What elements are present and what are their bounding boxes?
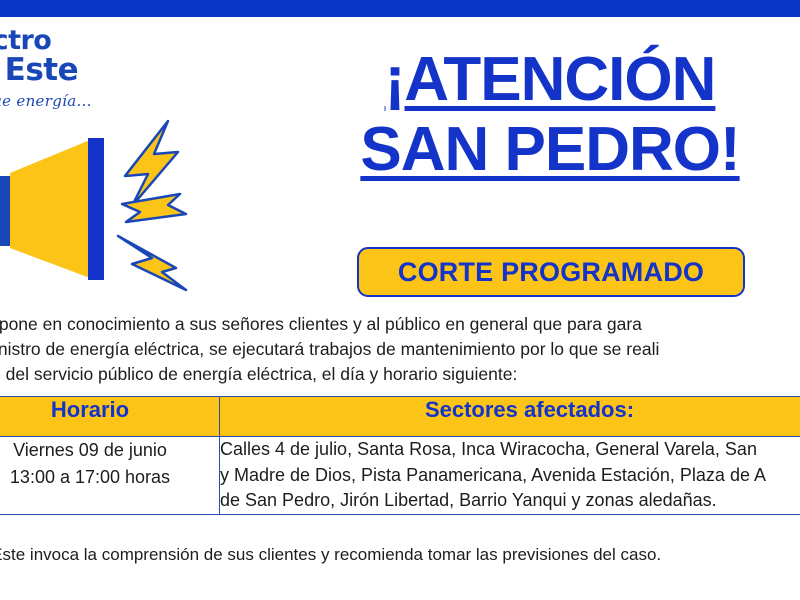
table-header-horario: Horario xyxy=(0,397,220,437)
schedule-time: 13:00 a 17:00 horas xyxy=(0,464,219,491)
outage-schedule-table: Horario Sectores afectados: Viernes 09 d… xyxy=(0,396,800,515)
megaphone-rim xyxy=(88,138,104,280)
intro-line-2: ar el suministro de energía eléctrica, s… xyxy=(0,337,800,362)
closing-text: Sur Este invoca la comprensión de sus cl… xyxy=(0,545,800,565)
top-blue-rule xyxy=(0,0,800,17)
cell-sectores: Calles 4 de julio, Santa Rosa, Inca Wira… xyxy=(220,437,800,515)
status-badge: CORTE PROGRAMADO xyxy=(357,247,745,297)
lightning-bolt-icon xyxy=(125,121,178,206)
cell-horario: Viernes 09 de junio 13:00 a 17:00 horas xyxy=(0,437,220,515)
logo-line-1: lectro xyxy=(0,28,188,54)
headline-line-1: ¡ATENCIÓN xyxy=(290,48,800,111)
sectors-line-1: Calles 4 de julio, Santa Rosa, Inca Wira… xyxy=(220,437,800,463)
lightning-bolt-icon xyxy=(118,236,186,290)
intro-line-1: Sur Este, pone en conocimiento a sus señ… xyxy=(0,312,800,337)
logo-line-2: ur Este xyxy=(0,56,188,85)
intro-paragraph: Sur Este, pone en conocimiento a sus señ… xyxy=(0,312,800,387)
outage-notice-poster: lectro ur Este ás que energía... xyxy=(0,0,800,600)
company-logo: lectro ur Este ás que energía... xyxy=(0,28,188,110)
status-badge-label: CORTE PROGRAMADO xyxy=(398,257,704,288)
sectors-line-3: de San Pedro, Jirón Libertad, Barrio Yan… xyxy=(220,488,800,514)
megaphone-illustration xyxy=(0,118,210,303)
headline-line-2: SAN PEDRO! xyxy=(290,118,800,181)
bottom-margin xyxy=(0,594,800,600)
lightning-bolt-icon xyxy=(122,194,186,222)
logo-tagline: ás que energía... xyxy=(0,92,188,110)
table-row: Viernes 09 de junio 13:00 a 17:00 horas … xyxy=(0,437,800,515)
megaphone-cone xyxy=(10,140,90,278)
table-header-row: Horario Sectores afectados: xyxy=(0,397,800,437)
table-header-sectores: Sectores afectados: xyxy=(220,397,800,437)
sectors-line-2: y Madre de Dios, Pista Panamericana, Ave… xyxy=(220,463,800,489)
intro-line-3: ogramado del servicio público de energía… xyxy=(0,362,800,387)
page-title: ¡ATENCIÓN SAN PEDRO! xyxy=(290,48,800,181)
schedule-date: Viernes 09 de junio xyxy=(0,437,219,464)
